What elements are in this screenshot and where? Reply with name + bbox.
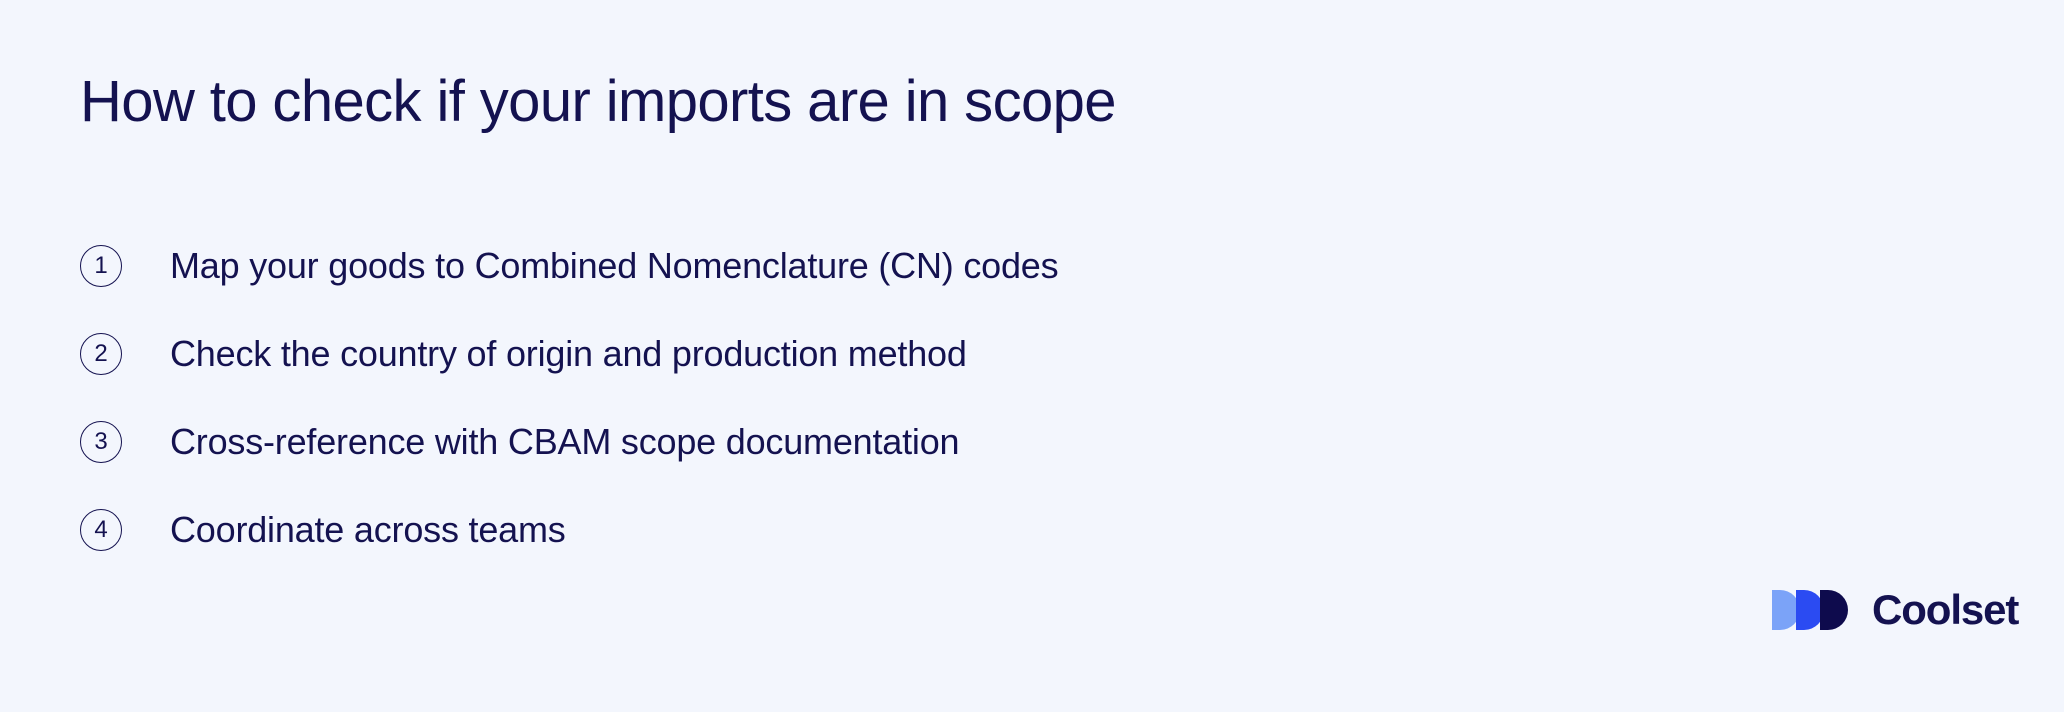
page-title: How to check if your imports are in scop… xyxy=(80,68,1116,136)
step-number-badge: 2 xyxy=(80,333,122,375)
step-number-badge: 4 xyxy=(80,509,122,551)
list-item: 2 Check the country of origin and produc… xyxy=(80,332,1058,376)
brand-name: Coolset xyxy=(1872,588,2018,632)
step-label: Coordinate across teams xyxy=(170,508,566,552)
list-item: 1 Map your goods to Combined Nomenclatur… xyxy=(80,244,1058,288)
slide-canvas: How to check if your imports are in scop… xyxy=(0,0,2064,712)
steps-list: 1 Map your goods to Combined Nomenclatur… xyxy=(80,244,1058,552)
step-label: Check the country of origin and producti… xyxy=(170,332,967,376)
step-number-badge: 1 xyxy=(80,245,122,287)
coolset-logo-icon xyxy=(1770,588,1856,632)
step-number-badge: 3 xyxy=(80,421,122,463)
list-item: 3 Cross-reference with CBAM scope docume… xyxy=(80,420,1058,464)
brand-logo: Coolset xyxy=(1770,586,2018,634)
step-label: Map your goods to Combined Nomenclature … xyxy=(170,244,1058,288)
list-item: 4 Coordinate across teams xyxy=(80,508,1058,552)
step-label: Cross-reference with CBAM scope document… xyxy=(170,420,959,464)
